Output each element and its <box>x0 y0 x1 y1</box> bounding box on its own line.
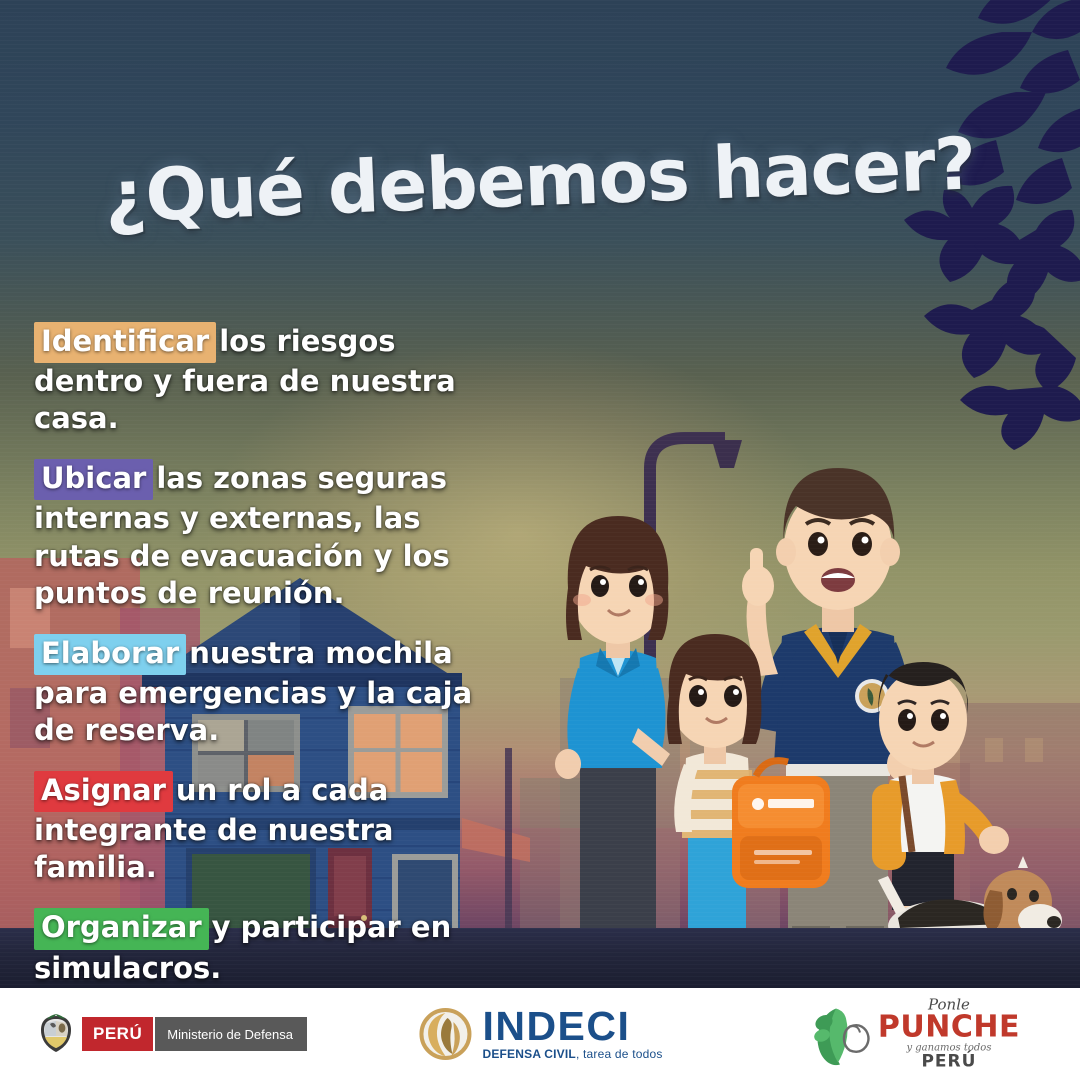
indeci-wordmark: INDECI DEFENSA CIVIL, tarea de todos <box>482 1007 662 1062</box>
peru-ministry-label: Ministerio de Defensa <box>153 1017 307 1051</box>
indeci-tagline: DEFENSA CIVIL, tarea de todos <box>482 1047 662 1061</box>
keyword-badge: Organizar <box>34 908 209 949</box>
list-item: Organizary participar en simulacros. <box>34 908 504 986</box>
action-list: Identificarlos riesgos dentro y fuera de… <box>34 322 504 1009</box>
ponle-punche-wordmark: Ponle PUNCHE y ganamos todos PERÚ <box>878 998 1020 1071</box>
list-item: Asignarun rol a cada integrante de nuest… <box>34 771 504 886</box>
peru-coat-of-arms-icon <box>36 1012 76 1056</box>
list-item: Identificarlos riesgos dentro y fuera de… <box>34 322 504 437</box>
peru-country-label: PERÚ <box>82 1017 153 1051</box>
family-illustration <box>520 428 1080 988</box>
peru-mindef-logo: PERÚ Ministerio de Defensa <box>36 1012 307 1056</box>
list-item: Elaborarnuestra mochila para emergencias… <box>34 634 504 749</box>
peru-map-boxing-glove-icon <box>806 1002 876 1066</box>
ponle-line-4: PERÚ <box>878 1054 1020 1071</box>
peru-wordmark-block: PERÚ Ministerio de Defensa <box>82 1017 307 1051</box>
indeci-logo: INDECI DEFENSA CIVIL, tarea de todos <box>417 1006 662 1062</box>
indeci-tagline-bold: DEFENSA CIVIL <box>482 1047 576 1061</box>
keyword-badge: Elaborar <box>34 634 186 675</box>
footer-bar: PERÚ Ministerio de Defensa INDECI DEFENS… <box>0 988 1080 1080</box>
indeci-name: INDECI <box>482 1007 662 1046</box>
keyword-badge: Asignar <box>34 771 173 812</box>
list-item: Ubicarlas zonas seguras internas y exter… <box>34 459 504 611</box>
indeci-tagline-rest: , tarea de todos <box>576 1047 663 1061</box>
infographic-poster: ¿Qué debemos hacer? Identificarlos riesg… <box>0 0 1080 1080</box>
ponle-line-2: PUNCHE <box>878 1013 1020 1043</box>
keyword-badge: Identificar <box>34 322 216 363</box>
indeci-emblem-icon <box>417 1006 473 1062</box>
emergency-backpack <box>732 761 830 888</box>
ponle-punche-peru-logo: Ponle PUNCHE y ganamos todos PERÚ <box>806 998 1020 1071</box>
foliage-silhouette <box>830 0 1080 450</box>
keyword-badge: Ubicar <box>34 459 153 500</box>
mother-figure <box>555 516 670 966</box>
